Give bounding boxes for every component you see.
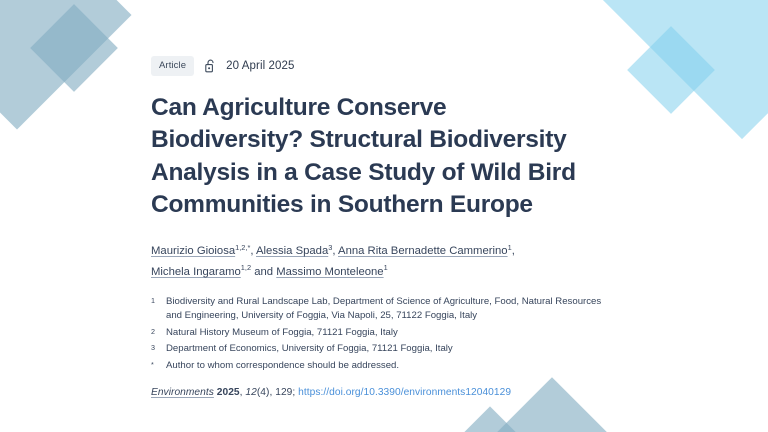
affiliation-row: 2Natural History Museum of Foggia, 71121… [151,326,651,340]
affiliation-row: 1Biodiversity and Rural Landscape Lab, D… [151,295,651,324]
article-type-badge[interactable]: Article [151,56,194,76]
citation-article-number: 129 [275,387,292,398]
affiliation-text: Author to whom correspondence should be … [166,359,611,373]
citation-year: 2025 [217,387,240,398]
citation-issue: (4) [257,387,270,398]
author-name[interactable]: Alessia Spada3 [256,245,332,257]
author-separator: and [251,266,276,278]
affiliation-row: *Author to whom correspondence should be… [151,359,651,373]
affiliation-marker: 1 [151,295,166,307]
article-landing-page: Article 20 April 2025 Can Agriculture Co… [0,0,768,432]
page-title: Can Agriculture Conserve Biodiversity? S… [151,92,601,221]
author-list: Maurizio Gioiosa1,2,*, Alessia Spada3, A… [151,241,531,283]
affiliation-text: Department of Economics, University of F… [166,342,611,356]
decorative-diamond-bottom-small [450,406,529,432]
decorative-diamond-top-left-large [0,0,132,130]
affiliation-marker: 3 [151,342,166,354]
author-name[interactable]: Maurizio Gioiosa1,2,* [151,245,250,257]
publication-date: 20 April 2025 [226,60,294,72]
open-access-lock-icon[interactable] [203,58,217,74]
author-name[interactable]: Michela Ingaramo1,2 [151,266,251,278]
author-separator: , [512,245,515,257]
affiliation-marker: 2 [151,326,166,338]
affiliation-text: Biodiversity and Rural Landscape Lab, De… [166,295,611,324]
affiliation-marker: * [151,359,166,371]
decorative-diamond-top-left-small [30,4,118,92]
affiliation-list: 1Biodiversity and Rural Landscape Lab, D… [151,295,651,373]
article-header-content: Article 20 April 2025 Can Agriculture Co… [151,56,651,398]
author-name[interactable]: Anna Rita Bernadette Cammerino1 [338,245,512,257]
affiliation-row: 3Department of Economics, University of … [151,342,651,356]
author-name[interactable]: Massimo Monteleone1 [276,266,388,278]
citation-journal[interactable]: Environments [151,387,214,398]
citation-line: Environments 2025, 12(4), 129; https://d… [151,387,651,398]
article-meta-row: Article 20 April 2025 [151,56,651,76]
citation-volume: 12 [245,387,256,398]
affiliation-text: Natural History Museum of Foggia, 71121 … [166,326,611,340]
citation-doi-link[interactable]: https://doi.org/10.3390/environments1204… [298,387,511,398]
